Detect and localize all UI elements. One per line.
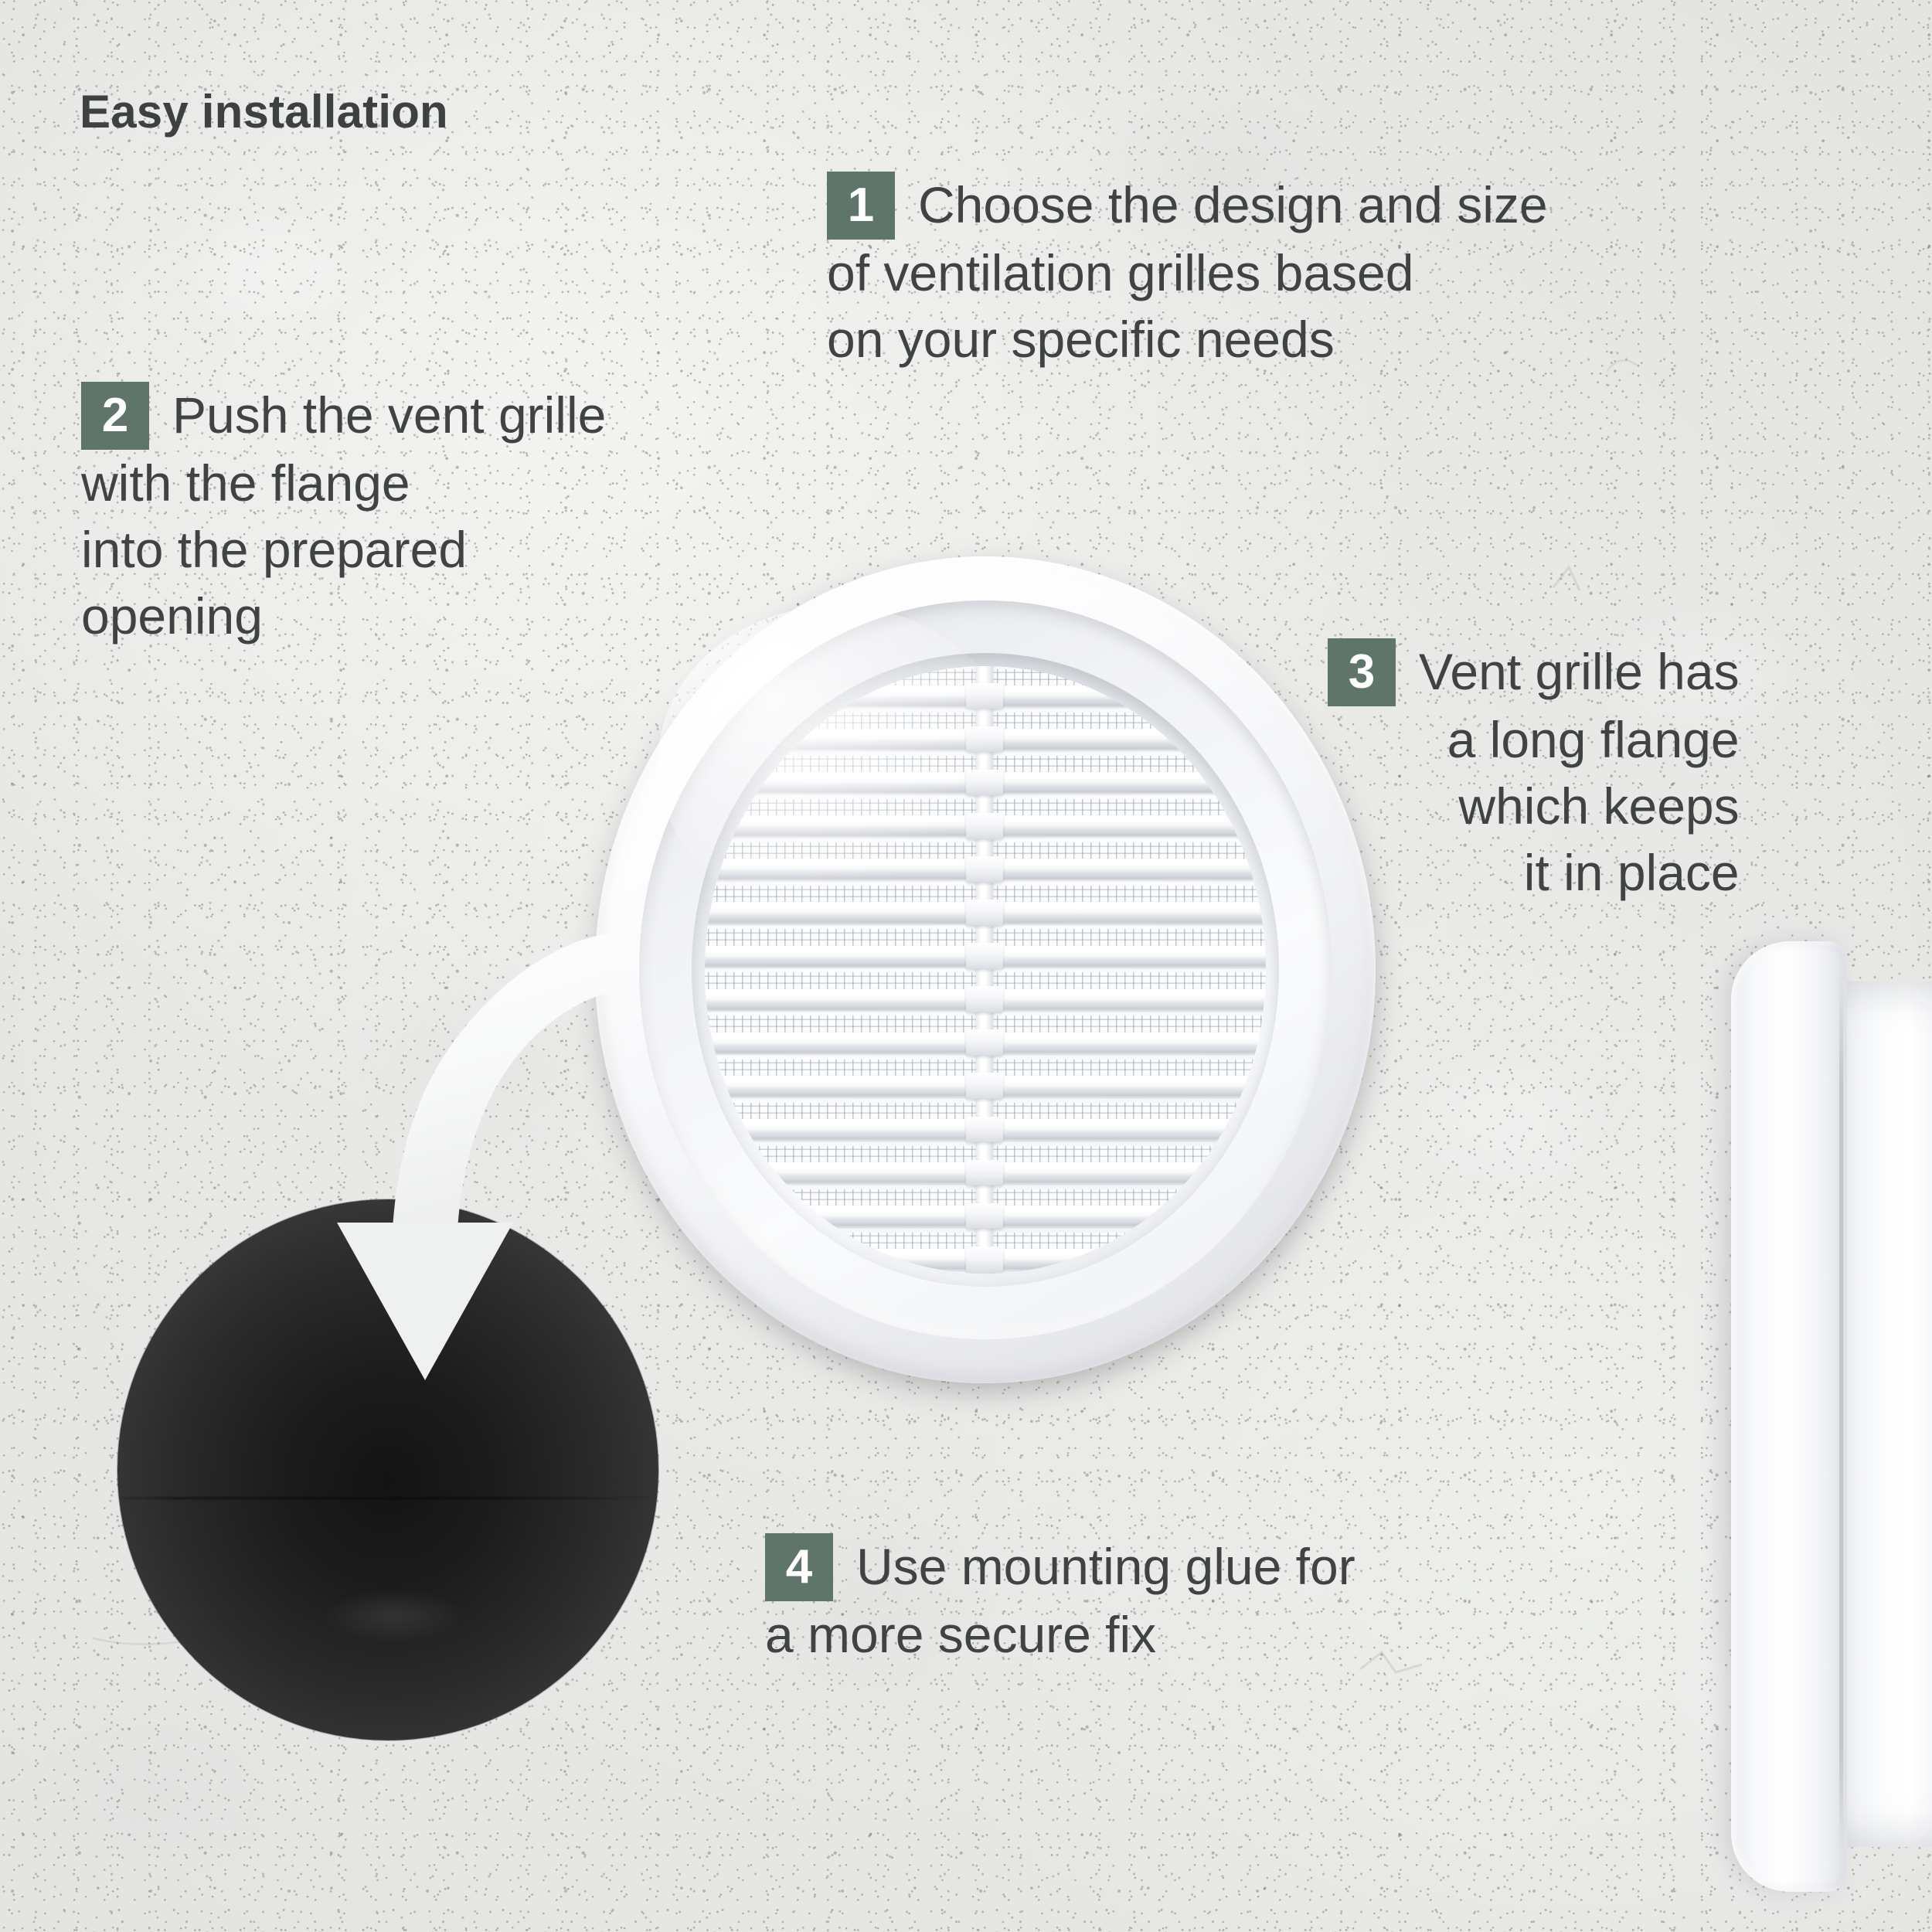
callout-step-3: 3 Vent grille has a long flange which ke…: [1328, 638, 1740, 906]
grille-rib-node: [966, 1247, 1003, 1273]
opening-crack: [117, 1497, 658, 1499]
grille-rib-node: [966, 900, 1003, 926]
callout-1-first-row: 1 Choose the design and size: [827, 172, 1548, 240]
grille-rib-node: [966, 943, 1003, 969]
vent-grille-flange-profile: [1731, 941, 1932, 1892]
flange-rim-disc: [1731, 941, 1847, 1892]
callout-3-first-row: 3 Vent grille has: [1328, 638, 1740, 706]
callout-1-line-3: on your specific needs: [827, 306, 1548, 372]
callout-2-line-4: opening: [81, 583, 606, 649]
callout-step-4: 4 Use mounting glue for a more secure fi…: [765, 1533, 1355, 1668]
callout-4-line-1: Use mounting glue for: [856, 1533, 1355, 1600]
callout-2-first-row: 2 Push the vent grille: [81, 382, 606, 450]
page-title: Easy installation: [80, 85, 448, 138]
arrow-shaft: [393, 934, 631, 1230]
arrow-head: [337, 1223, 513, 1380]
flange-seam: [1839, 978, 1843, 1850]
callout-step-2: 2 Push the vent grille with the flange i…: [81, 382, 606, 649]
grille-louver-area: [705, 666, 1265, 1273]
curved-down-arrow: [255, 920, 734, 1461]
opening-scuff: [323, 1589, 464, 1643]
grille-rib-node: [966, 813, 1003, 839]
grille-rib-node: [966, 986, 1003, 1012]
grille-rib-node: [966, 1029, 1003, 1056]
callout-2-line-3: into the prepared: [81, 516, 606, 583]
callout-2-line-2: with the flange: [81, 450, 606, 516]
callout-2-line-1: Push the vent grille: [172, 382, 606, 448]
infographic-canvas: Easy installation: [0, 0, 1932, 1932]
callout-2-rest: with the flange into the prepared openin…: [81, 450, 606, 649]
grille-rib-node: [966, 856, 1003, 883]
callout-3-line-3: which keeps: [1458, 773, 1739, 839]
step-badge-4: 4: [765, 1533, 833, 1601]
callout-step-1: 1 Choose the design and size of ventilat…: [827, 172, 1548, 372]
grille-rib-node: [966, 726, 1003, 753]
callout-3-line-1: Vent grille has: [1419, 638, 1740, 705]
grille-rib-node: [966, 770, 1003, 796]
grille-rib-node: [966, 683, 1003, 709]
callout-3-rest: a long flange which keeps it in place: [1328, 706, 1740, 906]
callout-4-rest: a more secure fix: [765, 1601, 1355, 1668]
step-badge-2: 2: [81, 382, 149, 450]
grille-rib-node: [966, 1160, 1003, 1186]
grille-rib-node: [966, 1117, 1003, 1143]
grille-rib-node: [966, 1073, 1003, 1099]
callout-4-line-2: a more secure fix: [765, 1601, 1355, 1668]
callout-3-line-4: it in place: [1524, 839, 1740, 906]
step-badge-3: 3: [1328, 638, 1396, 706]
grille-rib-node: [966, 1203, 1003, 1230]
callout-3-line-2: a long flange: [1447, 706, 1740, 773]
callout-1-line-1: Choose the design and size: [918, 172, 1548, 238]
step-badge-1: 1: [827, 172, 895, 240]
callout-1-line-2: of ventilation grilles based: [827, 240, 1548, 306]
callout-4-first-row: 4 Use mounting glue for: [765, 1533, 1355, 1601]
callout-1-rest: of ventilation grilles based on your spe…: [827, 240, 1548, 372]
